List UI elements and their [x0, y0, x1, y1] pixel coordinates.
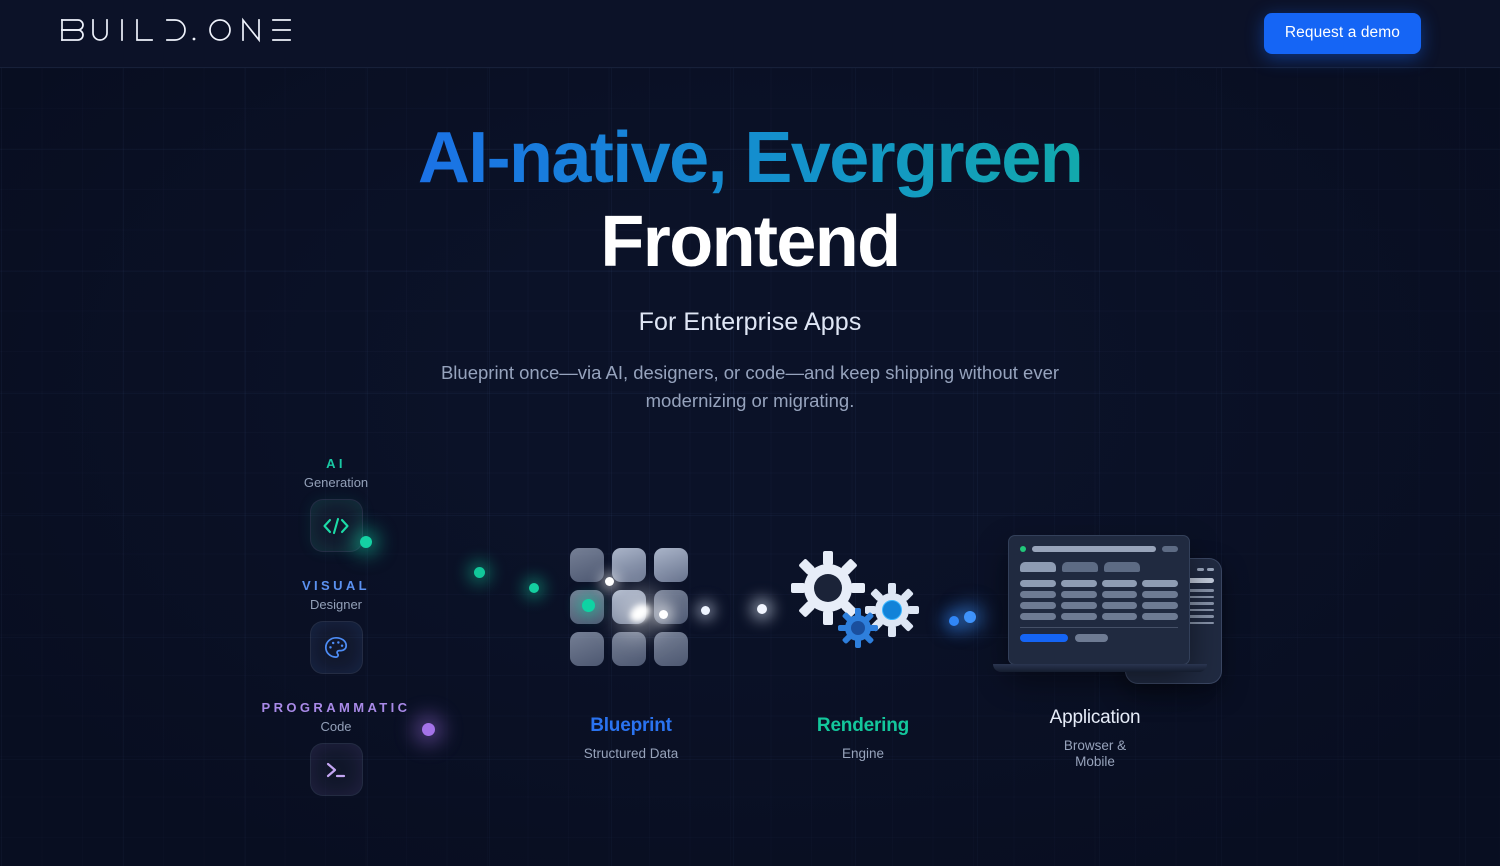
particle-white-2: [757, 604, 767, 614]
app-secondary-button: [1075, 634, 1108, 642]
app-tabs: [1020, 562, 1178, 572]
stage-application-sub-line2: Mobile: [1075, 754, 1115, 769]
gear-small-icon: [837, 607, 879, 649]
stage-application-sub: Browser & Mobile: [1005, 738, 1185, 770]
pipeline-diagram: AI Generation VISUAL Designer: [0, 440, 1500, 840]
particle-blue-2: [964, 611, 976, 623]
input-source-visual: VISUAL Designer: [246, 578, 426, 674]
browser-action-chip: [1162, 546, 1178, 552]
app-tab: [1062, 562, 1098, 572]
blueprint-green-indicator: [582, 599, 595, 612]
particle-teal-glow: [360, 536, 372, 548]
landing-page: BUILD.ONE Request a demo AI-native, Ever…: [0, 0, 1500, 866]
browser-toolbar: [1020, 546, 1178, 552]
input-source-programmatic-tile[interactable]: [310, 743, 363, 796]
browser-window-mockup: [1008, 535, 1190, 665]
input-source-ai-kicker: AI: [246, 456, 426, 471]
stage-rendering-title: Rendering: [773, 715, 953, 737]
stage-blueprint-visual: [570, 548, 690, 666]
stage-label-blueprint: Blueprint Structured Data: [541, 715, 721, 762]
input-source-ai-sub: Generation: [246, 475, 426, 490]
particle-white-1: [701, 606, 710, 615]
stage-rendering-visual: [790, 550, 940, 660]
app-action-row: [1020, 634, 1178, 642]
stage-application-title: Application: [1005, 707, 1185, 729]
input-source-programmatic-kicker: PROGRAMMATIC: [246, 700, 426, 715]
stage-label-rendering: Rendering Engine: [773, 715, 953, 762]
input-source-programmatic: PROGRAMMATIC Code: [246, 700, 426, 796]
stage-blueprint-title: Blueprint: [541, 715, 721, 737]
stage-application-visual: [1008, 535, 1228, 695]
blueprint-cell: [570, 632, 604, 666]
blueprint-cell: [654, 632, 688, 666]
blueprint-cell: [612, 548, 646, 582]
particle-white-spark: [659, 610, 668, 619]
blueprint-cell: [654, 548, 688, 582]
app-divider: [1020, 627, 1178, 628]
request-demo-button[interactable]: Request a demo: [1264, 13, 1421, 54]
browser-address-bar: [1032, 546, 1156, 552]
particle-green-1: [474, 567, 485, 578]
status-dot-icon: [1020, 546, 1026, 552]
headline-plain-line: Frontend: [0, 206, 1500, 278]
input-source-ai-tile[interactable]: [310, 499, 363, 552]
laptop-base: [993, 664, 1207, 672]
input-source-visual-kicker: VISUAL: [246, 578, 426, 593]
code-brackets-icon: [322, 516, 350, 536]
input-source-ai: AI Generation: [246, 456, 426, 552]
palette-icon: [323, 635, 349, 661]
particle-blue-1: [949, 616, 959, 626]
stage-blueprint-sub: Structured Data: [541, 746, 721, 762]
particle-purple-glow: [422, 723, 435, 736]
input-source-visual-sub: Designer: [246, 597, 426, 612]
app-primary-button: [1020, 634, 1068, 642]
hero-subheadline: For Enterprise Apps: [0, 308, 1500, 337]
stage-label-application: Application Browser & Mobile: [1005, 707, 1185, 770]
particle-white-spark: [605, 577, 614, 586]
input-source-visual-tile[interactable]: [310, 621, 363, 674]
terminal-icon: [323, 759, 349, 781]
blueprint-cell: [570, 548, 604, 582]
app-data-table: [1020, 580, 1178, 620]
app-tab: [1020, 562, 1056, 572]
app-tab: [1104, 562, 1140, 572]
hero-description: Blueprint once—via AI, designers, or cod…: [420, 359, 1080, 415]
page-title: AI-native, Evergreen Frontend: [0, 122, 1500, 278]
headline-gradient-line: AI-native, Evergreen: [0, 122, 1500, 200]
blueprint-cell: [612, 632, 646, 666]
blueprint-cell: [654, 590, 688, 624]
buildone-logo-icon: [60, 16, 292, 46]
particle-green-2: [529, 583, 539, 593]
brand-logo[interactable]: BUILD.ONE: [60, 16, 292, 51]
input-source-programmatic-sub: Code: [246, 719, 426, 734]
site-header: BUILD.ONE Request a demo: [0, 0, 1500, 68]
stage-application-sub-line1: Browser &: [1064, 738, 1126, 753]
stage-rendering-sub: Engine: [773, 746, 953, 762]
input-sources-group: AI Generation VISUAL Designer: [246, 456, 426, 822]
hero-section: AI-native, Evergreen Frontend For Enterp…: [0, 68, 1500, 415]
